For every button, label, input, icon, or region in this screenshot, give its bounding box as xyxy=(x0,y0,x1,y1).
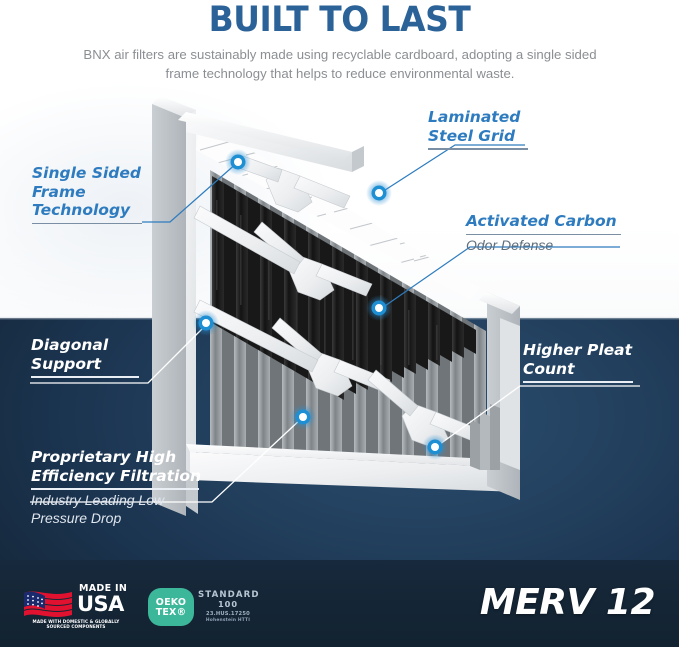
oeko-tex-mark: OEKO TEX® xyxy=(148,588,194,626)
page-title: BUILT TO LAST xyxy=(20,0,658,40)
oeko-institute: Hohenstein HTTI xyxy=(198,618,258,623)
callout-rule xyxy=(31,376,139,378)
callout-title: Laminated Steel Grid xyxy=(428,108,558,145)
usa-big-text: USA xyxy=(77,592,124,616)
callout-diagonal-support: Diagonal Support xyxy=(31,336,151,378)
callout-title: Diagonal Support xyxy=(31,336,151,373)
callout-rule xyxy=(523,381,633,383)
callout-title: Proprietary High Efficiency Filtration xyxy=(31,448,211,485)
merv-rating: MERV 12 xyxy=(480,582,655,623)
callout-proprietary-high-efficiency-filtration: Proprietary High Efficiency Filtration I… xyxy=(31,448,211,527)
oeko-certificate-number: 23.HUS.17250 xyxy=(198,611,258,617)
callout-title: Activated Carbon xyxy=(466,212,631,231)
made-in-usa-badge: MADE IN USA MADE WITH DOMESTIC & GLOBALL… xyxy=(22,583,130,629)
callout-laminated-steel-grid: Laminated Steel Grid xyxy=(428,108,558,150)
callout-rule xyxy=(32,223,142,225)
usa-flag-icon xyxy=(22,587,74,621)
page-subtitle: BNX air filters are sustainably made usi… xyxy=(70,45,610,83)
oeko-standard-number: 100 xyxy=(198,599,258,609)
usa-fine-print: MADE WITH DOMESTIC & GLOBALLY SOURCED CO… xyxy=(22,619,130,629)
infographic-panel: BUILT TO LAST BNX air filters are sustai… xyxy=(0,0,679,647)
oeko-mark-line2: TEX® xyxy=(148,607,194,618)
background-seam xyxy=(0,316,679,320)
callout-activated-carbon: Activated Carbon Odor Defense xyxy=(466,212,631,254)
callout-rule xyxy=(428,148,528,150)
callout-subtitle: Industry Leading Low Pressure Drop xyxy=(31,491,211,527)
callout-subtitle: Odor Defense xyxy=(466,236,631,254)
callout-title: Higher Pleat Count xyxy=(523,341,643,378)
callout-single-sided-frame-technology: Single Sided Frame Technology xyxy=(32,164,150,224)
callout-rule xyxy=(31,488,199,490)
oeko-tex-badge: OEKO TEX® STANDARD 100 23.HUS.17250 Hohe… xyxy=(148,588,258,628)
callout-higher-pleat-count: Higher Pleat Count xyxy=(523,341,643,383)
callout-rule xyxy=(466,234,621,236)
callout-title: Single Sided Frame Technology xyxy=(32,164,150,220)
